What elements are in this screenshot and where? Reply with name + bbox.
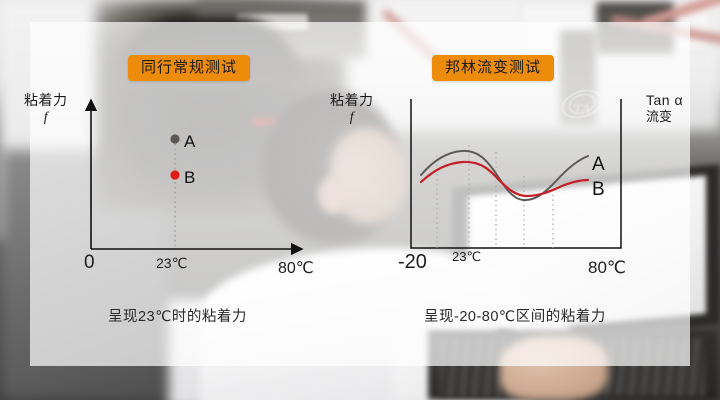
right-y-axis-label-line1: 粘着力	[330, 92, 374, 109]
diagram-content: TA 同行常规测试 邦林流变测试 粘着力 f 粘着力 f Tan α 流变 0 …	[0, 0, 720, 400]
right-secondary-axis-label: Tan α 流变	[646, 92, 683, 125]
left-caption: 呈现23℃时的粘着力	[108, 305, 247, 326]
badge-bonglin-rheology-test[interactable]: 邦林流变测试	[432, 55, 554, 81]
left-x-tick-0: 0	[84, 253, 95, 272]
right-secondary-axis-label-line2: 流变	[646, 109, 683, 125]
right-curve-label-b: B	[592, 180, 605, 199]
left-point-label-b: B	[184, 169, 195, 186]
right-x-tick-80c: 80℃	[588, 259, 626, 276]
left-y-axis-label-line1: 粘着力	[24, 92, 68, 109]
right-curve-a	[421, 151, 588, 200]
right-curve-label-a: A	[592, 155, 605, 174]
left-x-tick-80c: 80℃	[278, 261, 314, 277]
badge-peer-conventional-test[interactable]: 同行常规测试	[128, 55, 250, 81]
right-y-axis-label: 粘着力 f	[330, 92, 374, 126]
right-chart-graphic	[0, 0, 720, 400]
right-caption: 呈现-20-80℃区间的粘着力	[424, 305, 606, 326]
right-chart-gridlines	[437, 145, 553, 248]
right-secondary-axis-label-line1: Tan α	[646, 92, 683, 109]
left-y-axis-label: 粘着力 f	[24, 92, 68, 126]
right-chart-frame	[411, 99, 621, 248]
right-x-tick-minus20: -20	[398, 252, 427, 272]
right-curve-b	[421, 162, 588, 196]
left-y-axis-label-line2: f	[24, 109, 68, 126]
right-x-tick-23c: 23℃	[452, 250, 481, 263]
left-point-label-a: A	[184, 133, 195, 150]
right-y-axis-label-line2: f	[330, 109, 374, 126]
left-x-tick-23c: 23℃	[156, 256, 187, 270]
